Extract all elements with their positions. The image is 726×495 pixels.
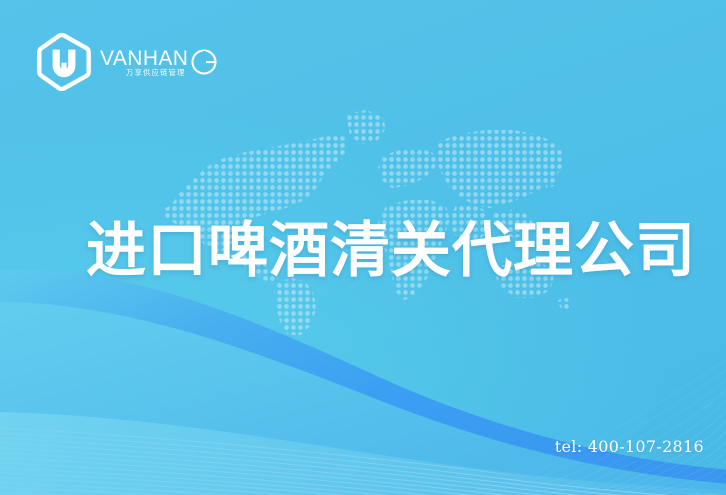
vanhang-hexagon-u-icon — [36, 33, 92, 91]
svg-text:万享供应链管理: 万享供应链管理 — [126, 68, 185, 77]
logo-wordmark: VANHAN 万享供应链管理 — [100, 45, 220, 79]
svg-text:VANHAN: VANHAN — [100, 47, 188, 70]
page-title: 进口啤酒清关代理公司 — [86, 216, 696, 286]
contact-phone[interactable]: tel: 400-107-2816 — [555, 437, 704, 456]
promo-banner: VANHAN 万享供应链管理 进口啤酒清关代理公司 tel: 400-107-2… — [0, 0, 726, 495]
company-logo[interactable]: VANHAN 万享供应链管理 — [36, 33, 220, 91]
fine-striped-ribbon — [0, 330, 726, 495]
